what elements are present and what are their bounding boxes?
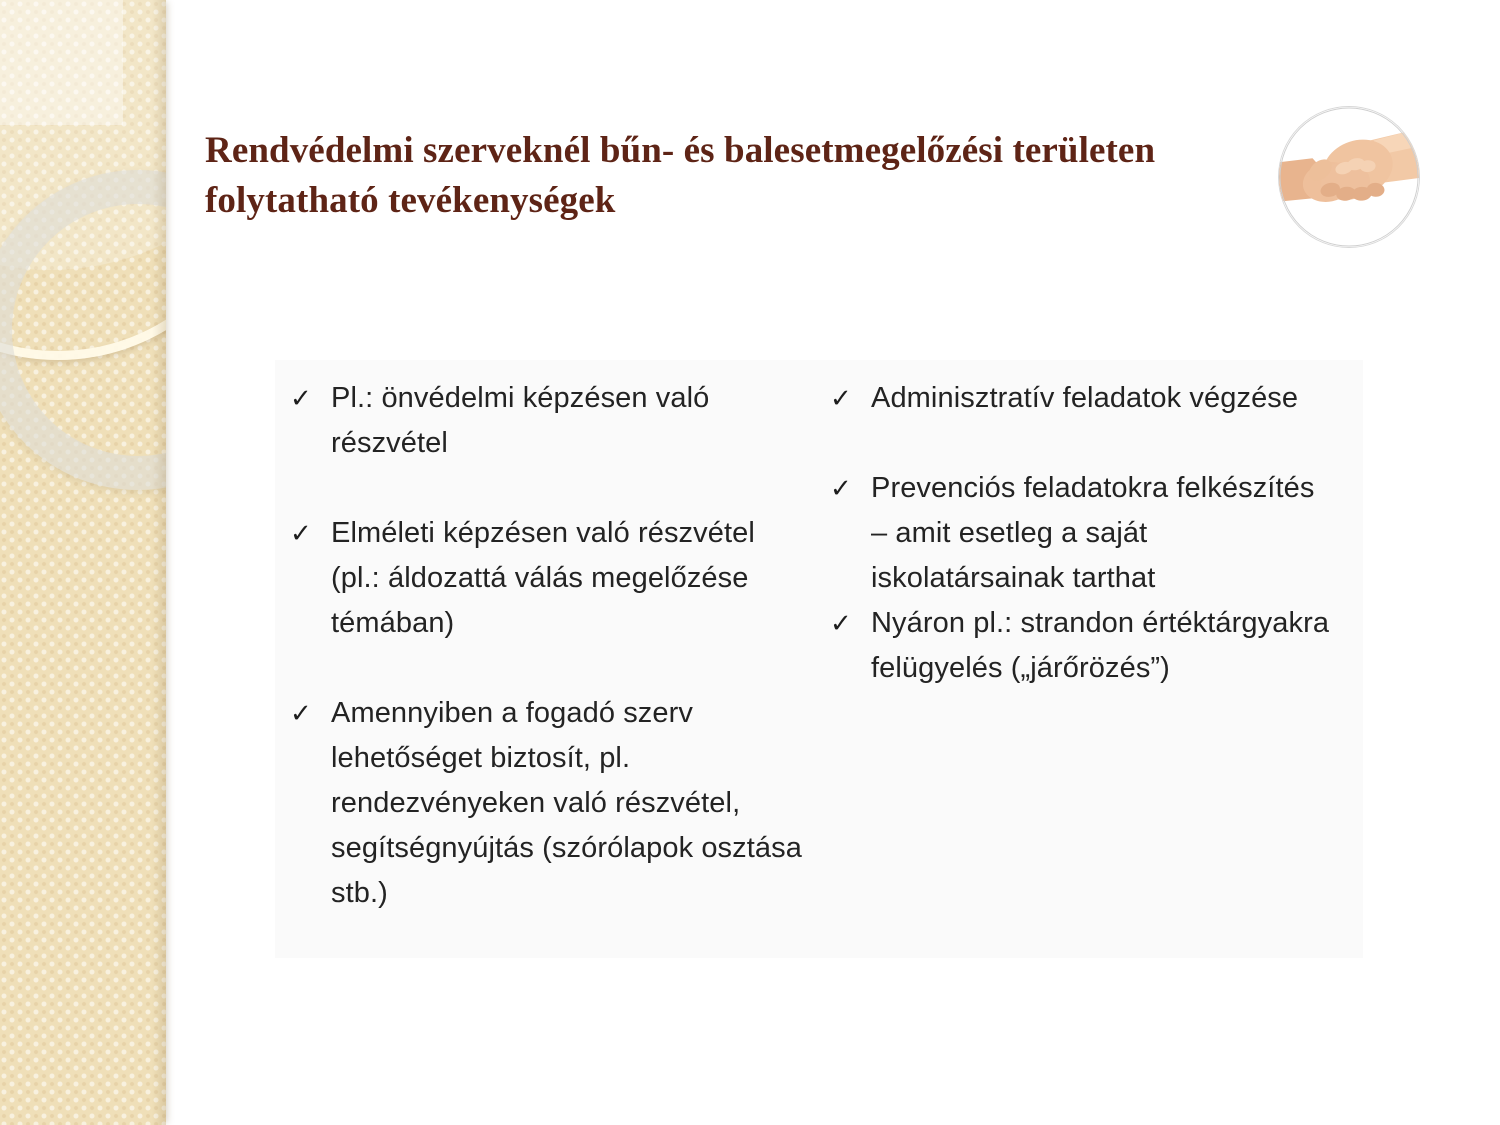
list-item-label: Pl.: önvédelmi képzésen való részvétel [331, 376, 810, 466]
content-box: ✓ Pl.: önvédelmi képzésen való részvétel… [275, 360, 1363, 958]
check-icon: ✓ [290, 376, 331, 421]
list-item: ✓ Elméleti képzésen való részvétel (pl.:… [290, 511, 810, 646]
list-item: ✓ Pl.: önvédelmi képzésen való részvétel [290, 376, 810, 466]
spacer [290, 466, 810, 511]
bullet-column-left: ✓ Pl.: önvédelmi képzésen való részvétel… [290, 376, 810, 916]
list-item-label: Prevenciós feladatokra felkészítés – ami… [871, 466, 1330, 601]
check-icon: ✓ [290, 511, 331, 556]
check-icon: ✓ [830, 466, 871, 511]
hands-photo [1278, 106, 1420, 248]
check-icon: ✓ [830, 376, 871, 421]
bullet-column-right: ✓ Adminisztratív feladatok végzése ✓ Pre… [830, 376, 1330, 691]
list-item-label: Elméleti képzésen való részvétel (pl.: á… [331, 511, 810, 646]
hands-photo-illustration [1279, 107, 1419, 247]
spacer [830, 421, 1330, 466]
list-item: ✓ Amennyiben a fogadó szerv lehetőséget … [290, 691, 810, 916]
list-item-label: Nyáron pl.: strandon értéktárgyakra felü… [871, 601, 1330, 691]
sidebar-grey-ring-icon [0, 170, 166, 490]
check-icon: ✓ [290, 691, 331, 736]
list-item: ✓ Adminisztratív feladatok végzése [830, 376, 1330, 421]
list-item: ✓ Nyáron pl.: strandon értéktárgyakra fe… [830, 601, 1330, 691]
list-item: ✓ Prevenciós feladatokra felkészítés – a… [830, 466, 1330, 601]
list-item-label: Amennyiben a fogadó szerv lehetőséget bi… [331, 691, 810, 916]
list-item-label: Adminisztratív feladatok végzése [871, 376, 1330, 421]
slide: Rendvédelmi szerveknél bűn- és balesetme… [0, 0, 1500, 1125]
decorative-sidebar [0, 0, 166, 1125]
check-icon: ✓ [830, 601, 871, 646]
spacer [290, 646, 810, 691]
slide-title: Rendvédelmi szerveknél bűn- és balesetme… [205, 126, 1235, 226]
